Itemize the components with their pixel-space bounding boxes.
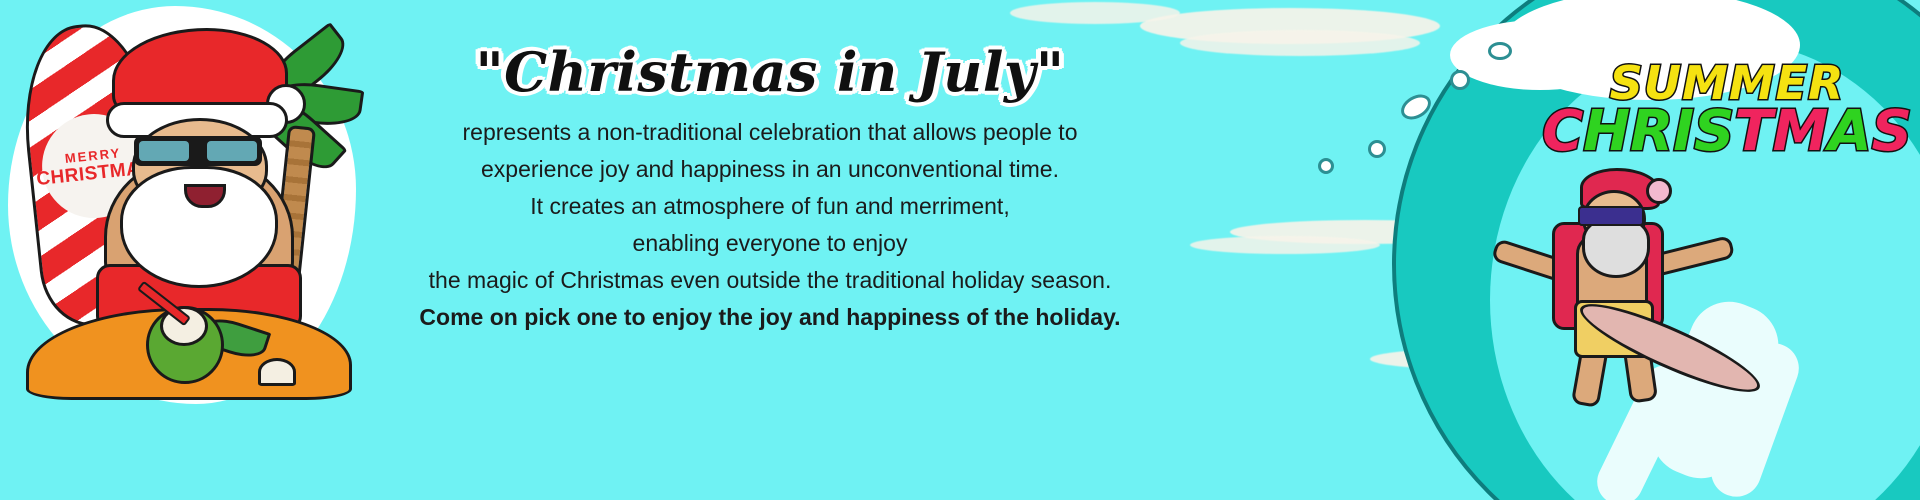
body-text: represents a non-traditional celebration… [360, 114, 1180, 336]
sunglasses-icon [1578, 206, 1644, 226]
beach-santa-sticker: MERRY CHRISTMAS [8, 6, 358, 406]
logo-letter: M [1773, 99, 1829, 164]
water-droplet-icon [1450, 70, 1470, 90]
body-line: experience joy and happiness in an uncon… [360, 151, 1180, 188]
santa-hat-pompom [1646, 178, 1672, 204]
text-block: "Christmas in July" represents a non-tra… [360, 18, 1180, 336]
wave-artwork: SUMMER CHRISTMAS [1200, 0, 1920, 500]
logo-letter: S [1694, 99, 1734, 164]
logo-letter: T [1734, 99, 1772, 164]
water-droplet-icon [1488, 42, 1512, 60]
logo-letter: R [1630, 99, 1673, 164]
seashell-icon [258, 358, 296, 386]
body-line: enabling everyone to enjoy [360, 225, 1180, 262]
logo-letter: A [1828, 99, 1871, 164]
water-droplet-icon [1318, 158, 1334, 174]
sunglasses-icon [134, 136, 262, 166]
logo-letter: I [1673, 99, 1694, 164]
body-line: the magic of Christmas even outside the … [360, 262, 1180, 299]
page-title: "Christmas in July" [360, 40, 1180, 104]
logo-line-christmas: CHRISTMAS [1542, 106, 1912, 158]
logo-line-summer: SUMMER [1542, 62, 1912, 104]
call-to-action-line: Come on pick one to enjoy the joy and ha… [360, 299, 1180, 336]
summer-christmas-logo: SUMMER CHRISTMAS [1542, 62, 1912, 158]
logo-letter: S [1872, 99, 1912, 164]
body-line: represents a non-traditional celebration… [360, 114, 1180, 151]
water-droplet-icon [1368, 140, 1386, 158]
christmas-in-july-banner: MERRY CHRISTMAS "Christmas in July" repr… [0, 0, 1920, 500]
logo-letter: C [1542, 99, 1583, 164]
body-line: It creates an atmosphere of fun and merr… [360, 188, 1180, 225]
logo-letter: H [1583, 99, 1630, 164]
santa-beard [1582, 218, 1650, 278]
